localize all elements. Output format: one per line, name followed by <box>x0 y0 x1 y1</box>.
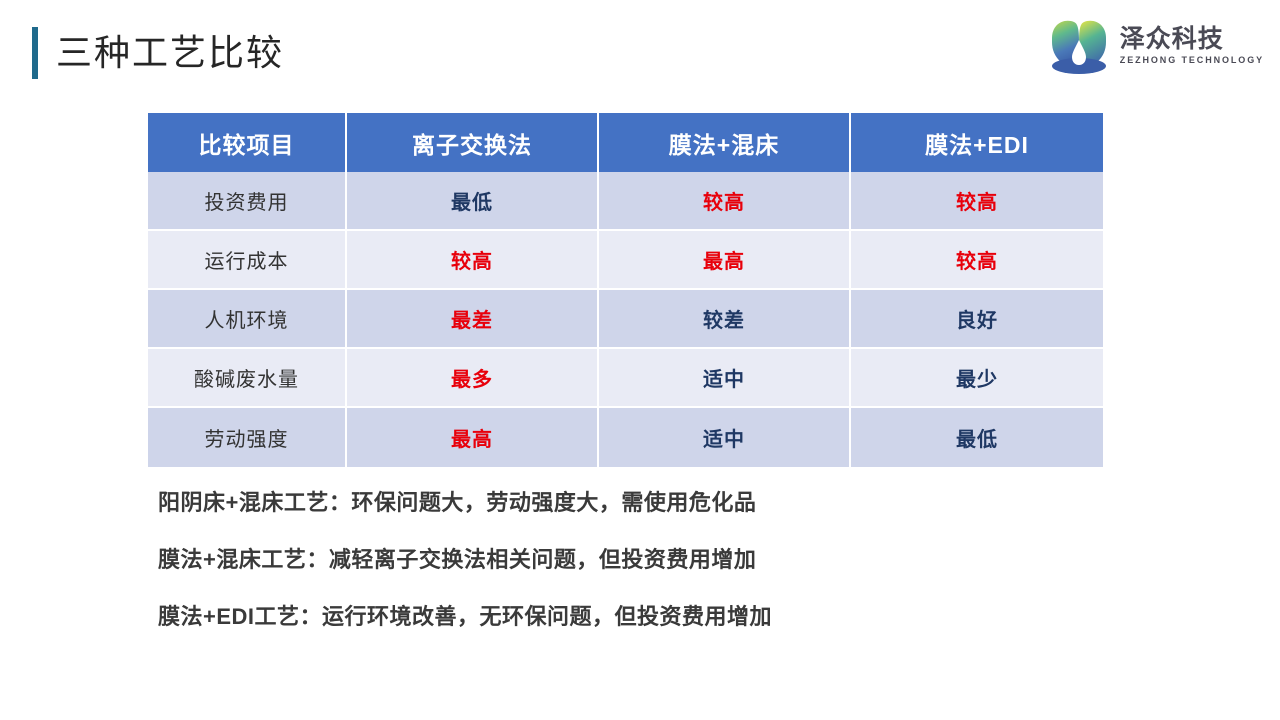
note-line-1: 阳阴床+混床工艺：环保问题大，劳动强度大，需使用危化品 <box>158 492 1158 514</box>
cell-value: 较高 <box>851 231 1103 290</box>
company-logo: 泽众科技 ZEZHONG TECHNOLOGY <box>1048 14 1264 76</box>
table-row: 酸碱废水量 最多 适中 最少 <box>148 349 1103 408</box>
slide-header: 三种工艺比较 <box>0 0 1280 100</box>
cell-value: 适中 <box>599 349 851 408</box>
column-header-membrane-mixed-bed: 膜法+混床 <box>599 113 851 172</box>
process-comparison-table: 比较项目 离子交换法 膜法+混床 膜法+EDI 投资费用 最低 较高 较高 运行… <box>148 113 1103 467</box>
column-header-ion-exchange: 离子交换法 <box>347 113 599 172</box>
row-label: 人机环境 <box>148 290 347 349</box>
note-line-2: 膜法+混床工艺：减轻离子交换法相关问题，但投资费用增加 <box>158 549 1158 571</box>
row-label: 劳动强度 <box>148 408 347 467</box>
column-header-membrane-edi: 膜法+EDI <box>851 113 1103 172</box>
cell-value: 最多 <box>347 349 599 408</box>
logo-text-group: 泽众科技 ZEZHONG TECHNOLOGY <box>1120 24 1264 65</box>
cell-value: 较高 <box>599 172 851 231</box>
page-title: 三种工艺比较 <box>56 35 284 71</box>
summary-notes: 阳阴床+混床工艺：环保问题大，劳动强度大，需使用危化品 膜法+混床工艺：减轻离子… <box>158 492 1158 628</box>
row-label: 酸碱废水量 <box>148 349 347 408</box>
cell-value: 最差 <box>347 290 599 349</box>
cell-value: 较高 <box>347 231 599 290</box>
cell-value: 适中 <box>599 408 851 467</box>
leaf-droplet-logo-icon <box>1048 16 1110 74</box>
title-accent-bar <box>32 27 38 79</box>
cell-value: 较高 <box>851 172 1103 231</box>
row-label: 运行成本 <box>148 231 347 290</box>
cell-value: 最少 <box>851 349 1103 408</box>
logo-name-cn: 泽众科技 <box>1120 26 1264 52</box>
note-line-3: 膜法+EDI工艺：运行环境改善，无环保问题，但投资费用增加 <box>158 606 1158 628</box>
table-row: 运行成本 较高 最高 较高 <box>148 231 1103 290</box>
cell-value: 较差 <box>599 290 851 349</box>
table-header-row: 比较项目 离子交换法 膜法+混床 膜法+EDI <box>148 113 1103 172</box>
row-label: 投资费用 <box>148 172 347 231</box>
cell-value: 最高 <box>347 408 599 467</box>
table-row: 劳动强度 最高 适中 最低 <box>148 408 1103 467</box>
cell-value: 良好 <box>851 290 1103 349</box>
column-header-criteria: 比较项目 <box>148 113 347 172</box>
table-row: 人机环境 最差 较差 良好 <box>148 290 1103 349</box>
cell-value: 最高 <box>599 231 851 290</box>
logo-name-en: ZEZHONG TECHNOLOGY <box>1120 56 1264 66</box>
page-title-group: 三种工艺比较 <box>32 25 284 81</box>
cell-value: 最低 <box>851 408 1103 467</box>
table-row: 投资费用 最低 较高 较高 <box>148 172 1103 231</box>
cell-value: 最低 <box>347 172 599 231</box>
